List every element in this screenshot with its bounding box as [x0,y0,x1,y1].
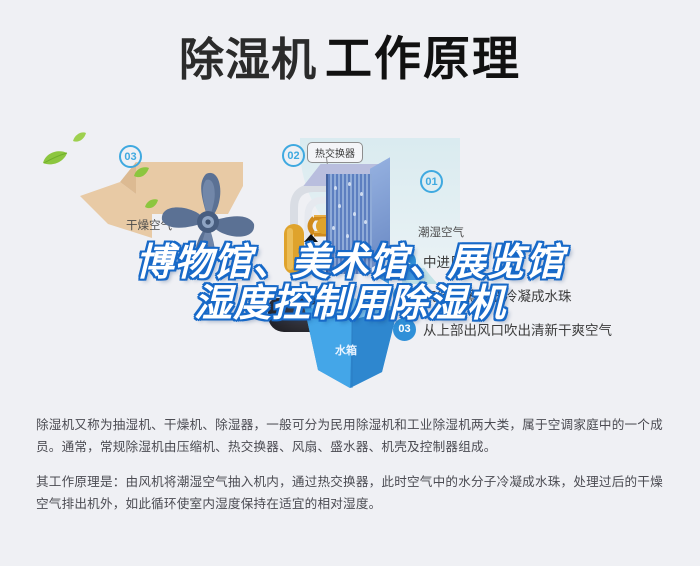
label-humid-air: 潮湿空气 [418,224,464,240]
leaf-icon [72,132,87,143]
step-text-02: 气经过蒸发器冷凝成水珠 [423,285,572,305]
description-paragraph-2: 其工作原理是：由风机将潮湿空气抽入机内，通过热交换器，此时空气中的水分子冷凝成水… [36,471,670,514]
step-badge-03: 03 [393,318,416,341]
step-text-03: 从上部出风口吹出清新干爽空气 [423,319,612,339]
step-badge-02: 02 [393,284,416,307]
heat-exchanger [326,174,392,278]
step-text-01: 中进风 [423,251,464,271]
step-row-01: 01 中进风 [393,244,693,278]
step-row-03: 03 从上部出风口吹出清新干爽空气 [393,312,693,346]
callout-heat-exchanger: 热交换器 [307,142,363,163]
description-paragraph-1: 除湿机又称为抽湿机、干燥机、除湿器，一般可分为民用除湿机和工业除湿机两大类，属于… [36,414,670,457]
heat-exchanger-side [370,157,390,269]
step-badge-01: 01 [393,250,416,273]
badge-02-heat-exchanger: 02 [282,144,305,167]
leaf-icon [42,150,68,166]
step-row-02: 02 气经过蒸发器冷凝成水珠 [393,278,693,312]
leaf-icon [133,166,150,179]
page-header: 除湿机 工作原理 [0,0,700,118]
step-list: 01 中进风 02 气经过蒸发器冷凝成水珠 03 从上部出风口吹出清新干爽空气 [393,244,693,346]
page-title: 除湿机 工作原理 [179,36,521,83]
page-title-part2: 工作原理 [325,36,521,83]
condensation-drops [326,174,370,274]
label-water-tank: 水箱 [335,342,357,358]
infographic-page: 除湿机 工作原理 [0,0,700,566]
description-block: 除湿机又称为抽湿机、干燥机、除湿器，一般可分为民用除湿机和工业除湿机两大类，属于… [36,414,670,515]
fan-illustration [150,164,268,282]
badge-01-humid-air: 01 [420,170,443,193]
illustration-stage: 03 干燥空气 [0,112,700,404]
page-title-part1: 除湿机 [179,37,317,82]
badge-03-dry-air: 03 [119,145,142,168]
